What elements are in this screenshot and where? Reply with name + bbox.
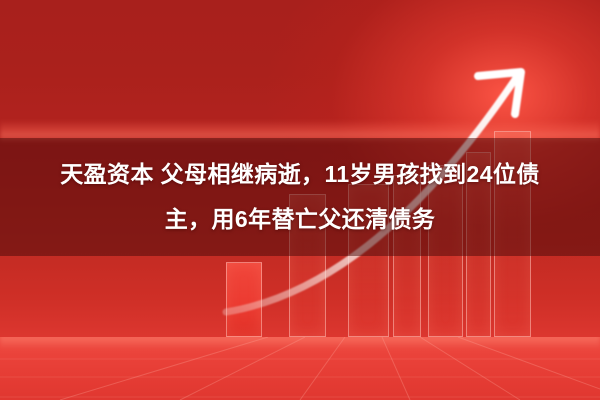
headline-line-2: 主，用6年替亡父还清债务 [26,197,574,242]
page-title: 天盈资本 父母相继病逝，11岁男孩找到24位债 主，用6年替亡父还清债务 [0,152,600,242]
banner-image: 天盈资本 父母相继病逝，11岁男孩找到24位债 主，用6年替亡父还清债务 [0,0,600,400]
headline-line-1: 天盈资本 父母相继病逝，11岁男孩找到24位债 [26,152,574,197]
perspective-grid-floor [0,337,600,400]
floor-grid-lines [0,337,600,400]
